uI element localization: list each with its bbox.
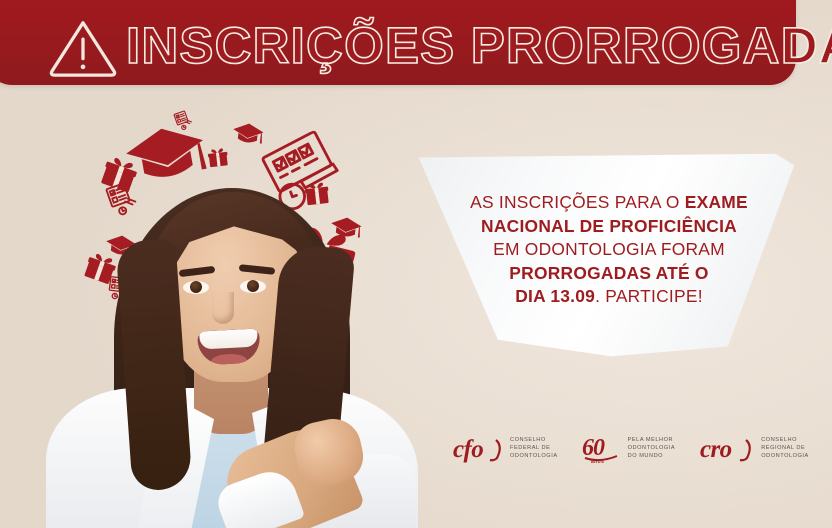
cfo-line-3: Odontologia bbox=[510, 452, 558, 460]
60-anos-logo-text: Pela melhor Odontologia do mundo bbox=[628, 436, 676, 461]
cro-line-3: Odontologia bbox=[761, 452, 809, 460]
60-anos-logo: 60 anos Pela melhor Odontologia do mundo bbox=[582, 432, 676, 464]
svg-text:cro: cro bbox=[700, 436, 732, 463]
warning-triangle-icon bbox=[44, 13, 122, 79]
cro-logo-text: Conselho Regional de Odontologia bbox=[761, 436, 809, 461]
poster-canvas: INSCRIÇÕES PRORROGADAS AS INSCRIÇÕES PAR… bbox=[0, 0, 832, 528]
cfo-logo: cfo Conselho Federal de Odontologia bbox=[452, 433, 558, 463]
cfo-line-2: Federal de bbox=[510, 444, 558, 452]
cro-line-2: Regional de bbox=[761, 444, 809, 452]
cro-logo: cro Conselho Regional de Odontologia bbox=[699, 433, 809, 463]
woman-photo bbox=[52, 180, 412, 528]
banner-header: INSCRIÇÕES PRORROGADAS bbox=[0, 0, 796, 85]
panel-line: EM ODONTOLOGIA FORAM bbox=[493, 238, 725, 262]
cfo-wordmark-icon: cfo bbox=[452, 433, 504, 463]
cro-wordmark-icon: cro bbox=[699, 433, 755, 463]
eye-right bbox=[240, 280, 266, 293]
logo-bar: cfo Conselho Federal de Odontologia 60 a… bbox=[452, 424, 792, 472]
panel-text: AS INSCRIÇÕES PARA O EXAMENACIONAL DE PR… bbox=[414, 150, 804, 358]
gift-box-icon bbox=[207, 147, 229, 168]
cfo-logo-text: Conselho Federal de Odontologia bbox=[510, 436, 558, 461]
cro-line-1: Conselho bbox=[761, 436, 809, 444]
panel-line: DIA 13.09. PARTICIPE! bbox=[515, 285, 703, 309]
eye-left bbox=[183, 281, 209, 294]
anos-line-2: Odontologia bbox=[628, 444, 676, 452]
svg-text:anos: anos bbox=[591, 459, 604, 464]
teeth bbox=[199, 329, 258, 350]
graduation-cap-icon bbox=[231, 120, 266, 147]
60-anos-mark-icon: 60 anos bbox=[582, 432, 622, 464]
panel-line: AS INSCRIÇÕES PARA O EXAME bbox=[470, 191, 748, 215]
cfo-line-1: Conselho bbox=[510, 436, 558, 444]
panel-line: PRORROGADAS ATÉ O bbox=[509, 262, 708, 286]
anos-line-1: Pela melhor bbox=[628, 436, 676, 444]
message-panel: AS INSCRIÇÕES PARA O EXAMENACIONAL DE PR… bbox=[414, 150, 804, 358]
panel-line: NACIONAL DE PROFICIÊNCIA bbox=[481, 215, 737, 239]
nose bbox=[212, 292, 234, 324]
anos-line-3: do mundo bbox=[628, 452, 676, 460]
banner-title: INSCRIÇÕES PRORROGADAS bbox=[126, 20, 832, 73]
svg-text:cfo: cfo bbox=[453, 436, 483, 463]
